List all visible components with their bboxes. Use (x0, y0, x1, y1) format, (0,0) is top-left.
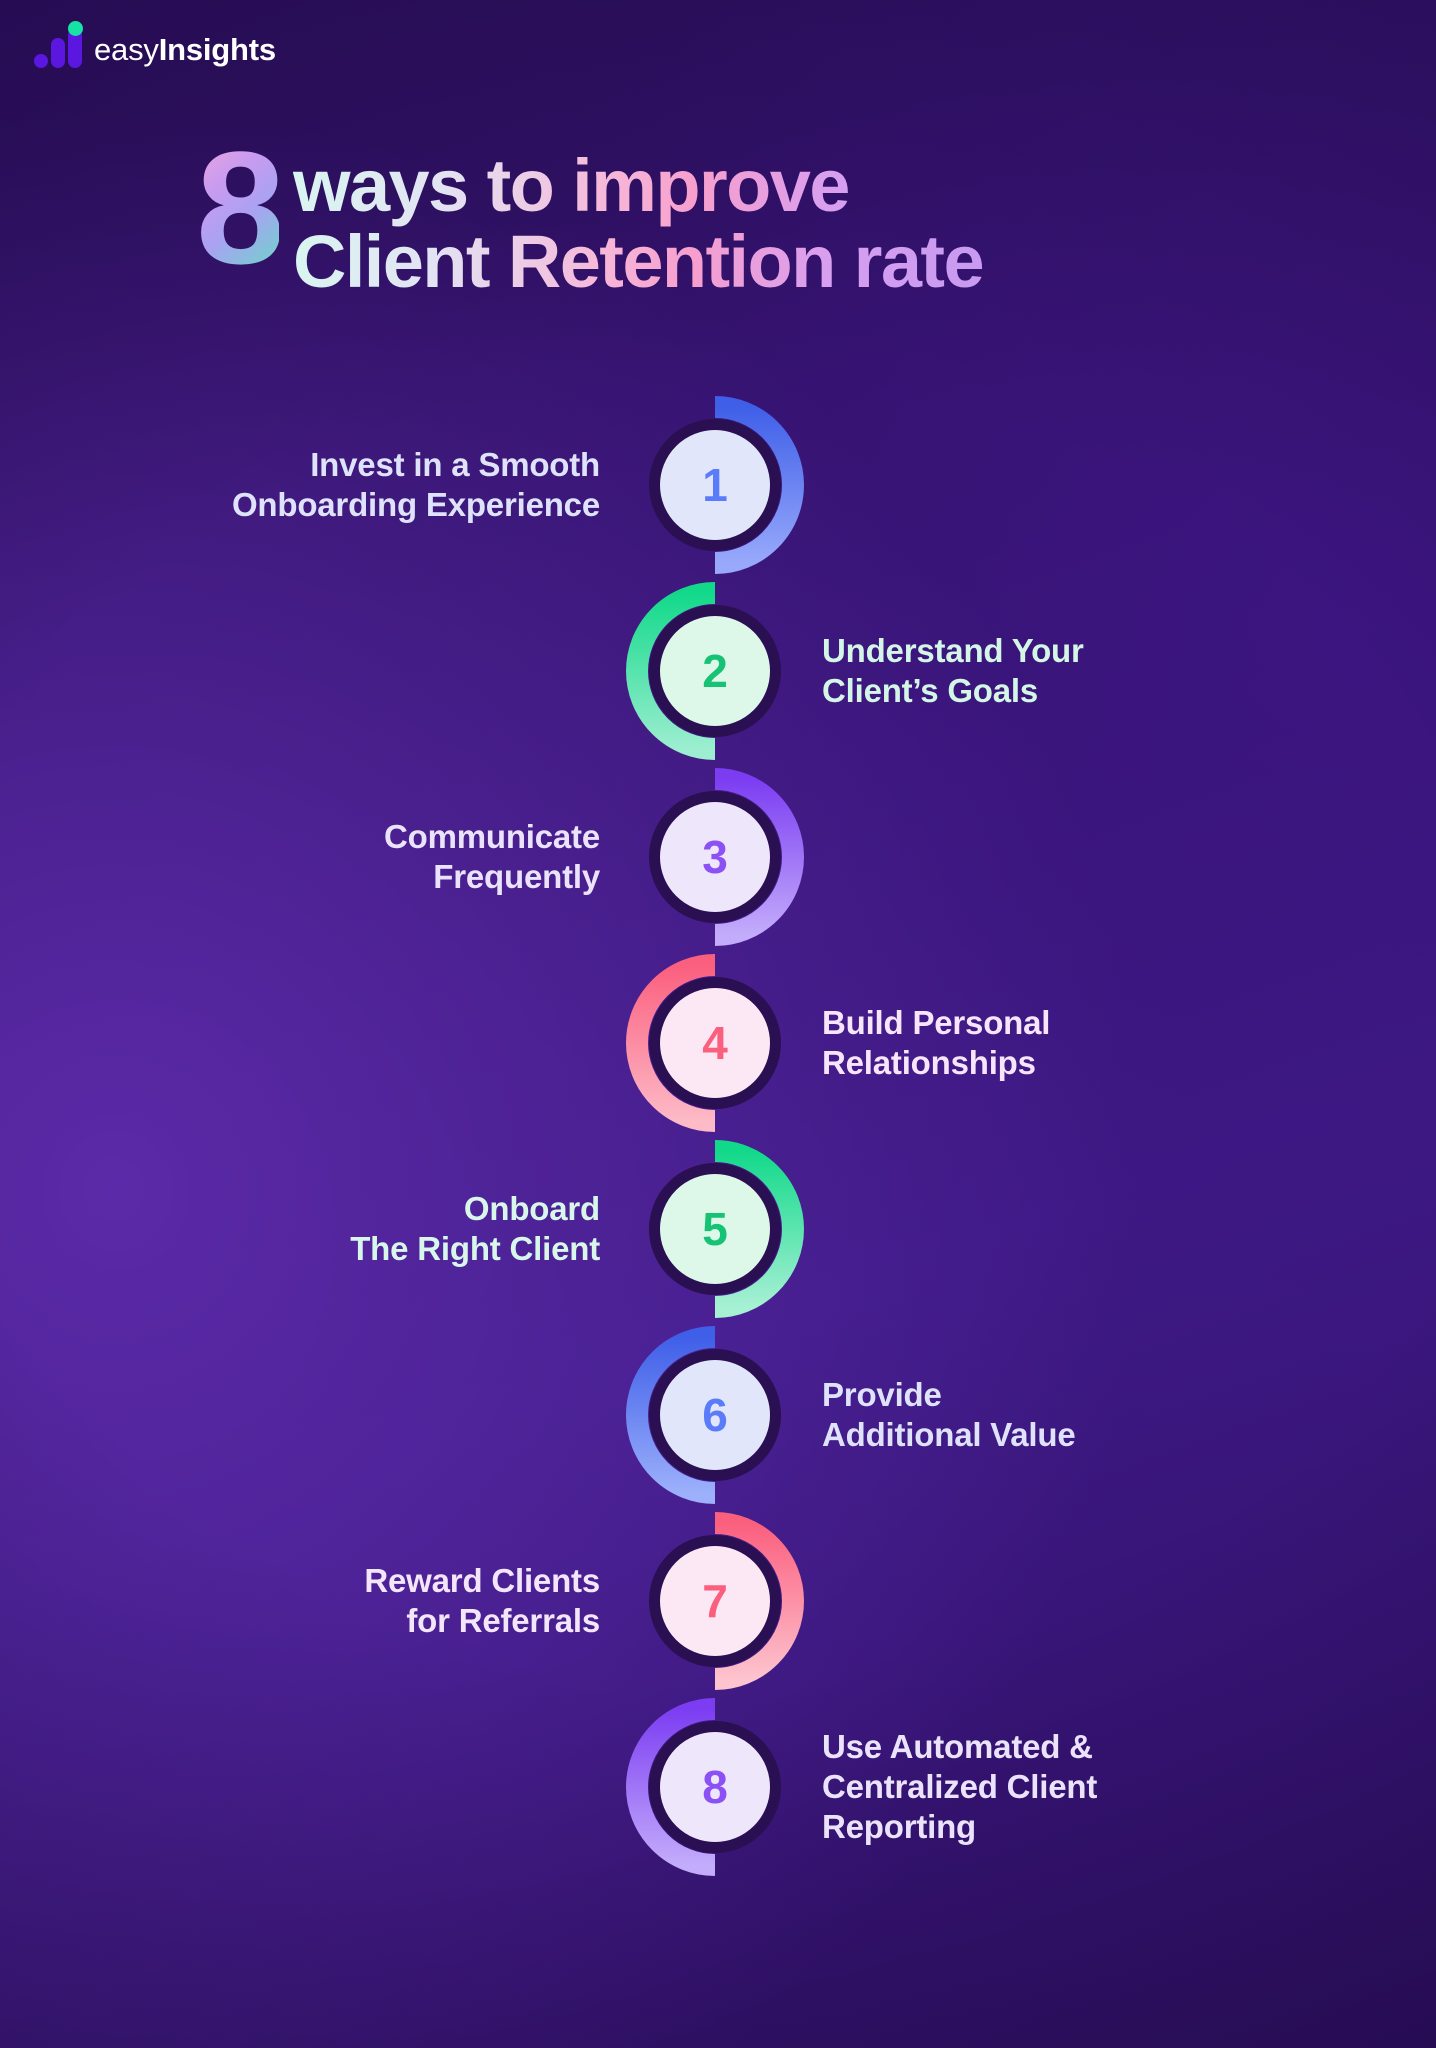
brand-logo: easyInsights (34, 24, 276, 68)
timeline-step: 4Build Personal Relationships (0, 950, 1436, 1136)
step-number-label: 7 (702, 1578, 728, 1624)
step-graphic-7: 7 (622, 1508, 808, 1694)
step-graphic-4: 4 (622, 950, 808, 1136)
step-number-circle: 8 (649, 1721, 781, 1853)
logo-dot-icon (68, 21, 83, 36)
bar-chart-logo-icon (34, 24, 80, 68)
step-graphic-3: 3 (622, 764, 808, 950)
timeline-step: 7Reward Clients for Referrals (0, 1508, 1436, 1694)
timeline-step: 2Understand Your Client’s Goals (0, 578, 1436, 764)
brand-name-light: easy (94, 32, 159, 67)
step-label: Use Automated & Centralized Client Repor… (822, 1727, 1097, 1847)
step-number-circle: 7 (649, 1535, 781, 1667)
step-label: Build Personal Relationships (822, 1003, 1050, 1083)
step-label: Reward Clients for Referrals (364, 1561, 600, 1641)
step-graphic-1: 1 (622, 392, 808, 578)
brand-name: easyInsights (94, 34, 276, 68)
step-number-circle: 6 (649, 1349, 781, 1481)
steps-timeline: 1Invest in a Smooth Onboarding Experienc… (0, 392, 1436, 1880)
step-number-label: 2 (702, 648, 728, 694)
brand-name-bold: Insights (159, 32, 276, 67)
step-number-circle: 1 (649, 419, 781, 551)
step-label: Provide Additional Value (822, 1375, 1076, 1455)
step-number-circle: 4 (649, 977, 781, 1109)
headline-line-1: ways to improve (293, 148, 983, 224)
timeline-step: 5Onboard The Right Client (0, 1136, 1436, 1322)
headline-text: ways to improve Client Retention rate (293, 148, 983, 300)
headline-line-2: Client Retention rate (293, 224, 983, 300)
step-number-label: 5 (702, 1206, 728, 1252)
step-number-circle: 2 (649, 605, 781, 737)
headline-number: 8 (196, 134, 279, 281)
step-number-label: 4 (702, 1020, 728, 1066)
logo-bar-medium (51, 38, 65, 68)
page-title: 8 ways to improve Client Retention rate (196, 148, 1306, 300)
step-graphic-5: 5 (622, 1136, 808, 1322)
step-graphic-2: 2 (622, 578, 808, 764)
step-graphic-6: 6 (622, 1322, 808, 1508)
step-label: Invest in a Smooth Onboarding Experience (232, 445, 600, 525)
step-graphic-8: 8 (622, 1694, 808, 1880)
step-number-label: 6 (702, 1392, 728, 1438)
step-label: Communicate Frequently (384, 817, 600, 897)
step-number-label: 3 (702, 834, 728, 880)
step-number-label: 8 (702, 1764, 728, 1810)
step-label: Understand Your Client’s Goals (822, 631, 1084, 711)
timeline-step: 6Provide Additional Value (0, 1322, 1436, 1508)
timeline-step: 8Use Automated & Centralized Client Repo… (0, 1694, 1436, 1880)
timeline-step: 3Communicate Frequently (0, 764, 1436, 950)
step-label: Onboard The Right Client (350, 1189, 600, 1269)
step-number-circle: 5 (649, 1163, 781, 1295)
step-number-circle: 3 (649, 791, 781, 923)
timeline-step: 1Invest in a Smooth Onboarding Experienc… (0, 392, 1436, 578)
step-number-label: 1 (702, 462, 728, 508)
logo-bar-small (34, 54, 48, 68)
